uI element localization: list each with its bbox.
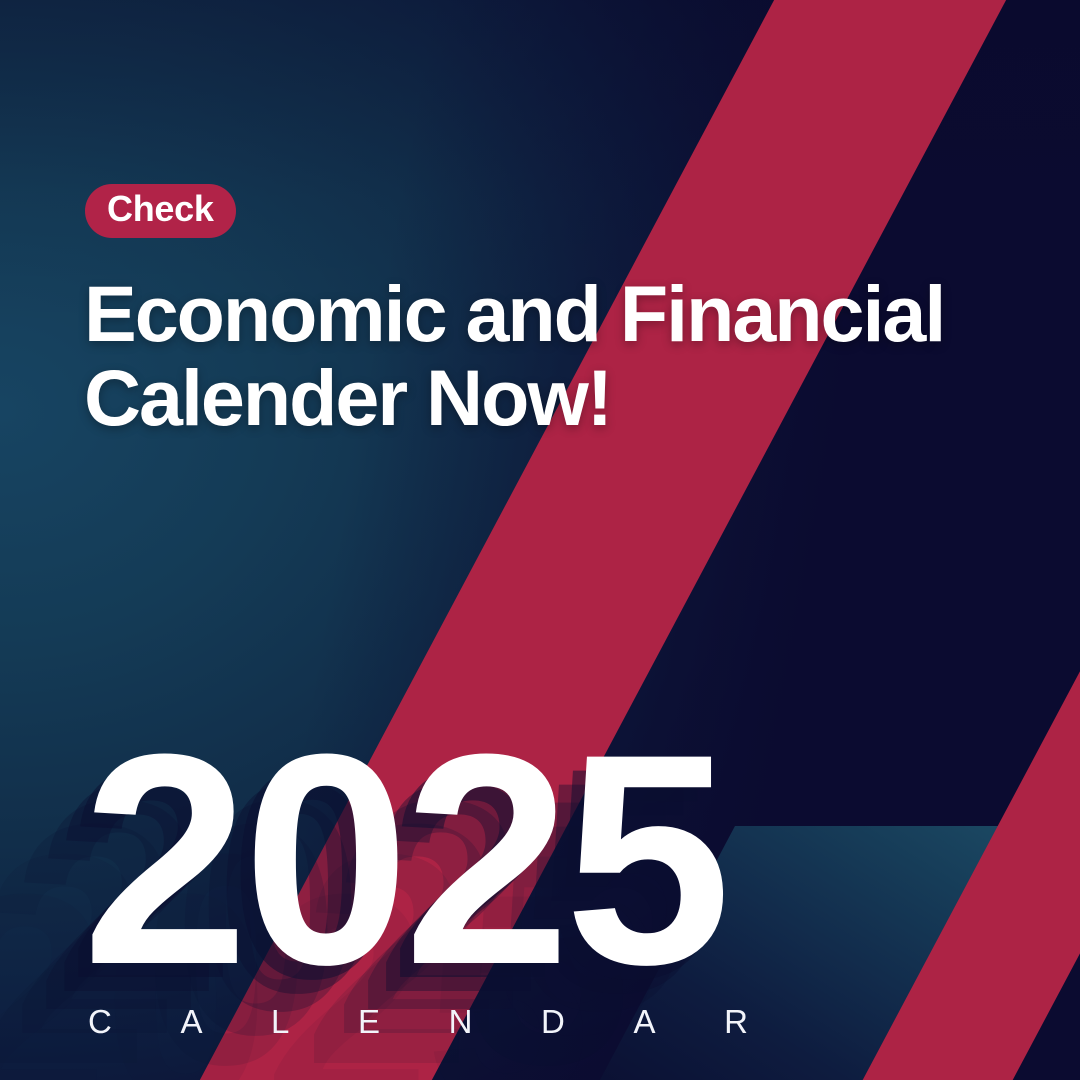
calendar-letter-4: N xyxy=(449,1005,473,1039)
poster-content: Check Economic and Financial Calender No… xyxy=(0,0,1080,1080)
calendar-letter-6: A xyxy=(633,1005,655,1039)
poster-canvas: Check Economic and Financial Calender No… xyxy=(0,0,1080,1080)
year-block: 2025 xyxy=(82,744,782,974)
year-text: 2025 xyxy=(82,744,782,974)
check-badge[interactable]: Check xyxy=(85,184,236,238)
calendar-letter-5: D xyxy=(541,1005,565,1039)
calendar-letter-3: E xyxy=(358,1005,380,1039)
calendar-letter-7: R xyxy=(724,1005,748,1039)
page-title: Economic and Financial Calender Now! xyxy=(84,272,1014,440)
calendar-letter-1: A xyxy=(180,1005,202,1039)
headline-line-2: Calender Now! xyxy=(84,356,1014,440)
calendar-letter-2: L xyxy=(271,1005,289,1039)
calendar-wordmark: C A L E N D A R xyxy=(88,1005,748,1039)
calendar-letter-0: C xyxy=(88,1005,112,1039)
headline-line-1: Economic and Financial xyxy=(84,272,1014,356)
